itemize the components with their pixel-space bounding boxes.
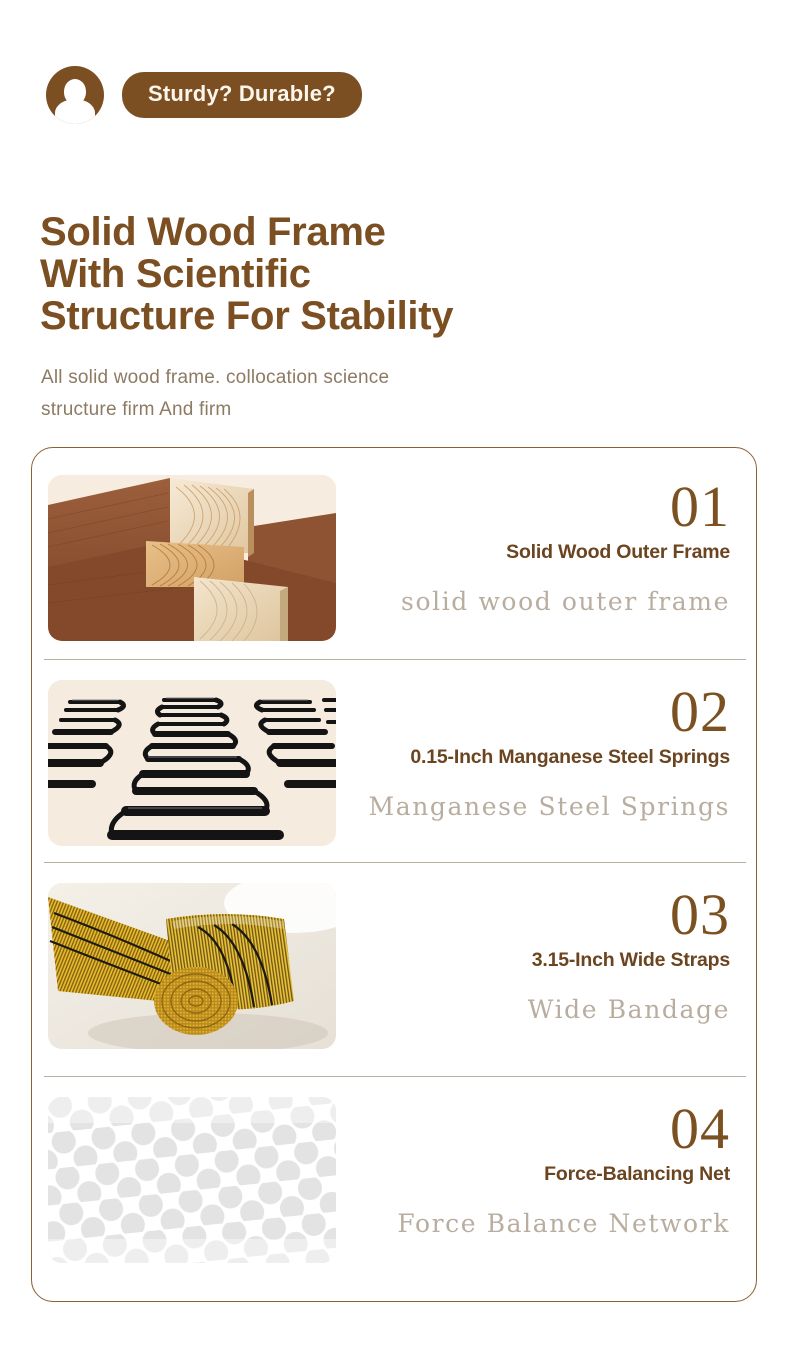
solid-wood-beams-image [48,475,336,641]
feature-list-card: 01 Solid Wood Outer Frame solid wood out… [31,447,757,1302]
subtitle-line-1: All solid wood frame. collocation scienc… [41,362,389,394]
feature-label: Solid Wood Outer Frame [506,541,730,564]
feature-rows: 01 Solid Wood Outer Frame solid wood out… [32,448,756,1301]
feature-row[interactable]: 03 3.15-Inch Wide Straps Wide Bandage [32,866,756,1066]
feature-sublabel: Manganese Steel Springs [369,792,731,821]
feature-number: 03 [670,889,730,941]
serpentine-springs-image [48,680,336,846]
page-subtitle: All solid wood frame. collocation scienc… [41,362,389,426]
headline-line-1: Solid Wood Frame [40,211,453,253]
feature-number: 04 [670,1103,730,1155]
feature-row[interactable]: 02 0.15-Inch Manganese Steel Springs Man… [32,663,756,863]
feature-text-column: 04 Force-Balancing Net Force Balance Net… [336,1097,756,1263]
feature-text-column: 02 0.15-Inch Manganese Steel Springs Man… [336,680,756,846]
page-title: Solid Wood Frame With Scientific Structu… [40,211,453,337]
feature-number: 02 [670,686,730,738]
feature-text-column: 03 3.15-Inch Wide Straps Wide Bandage [336,883,756,1049]
force-balance-mesh-image [48,1097,336,1263]
feature-label: 3.15-Inch Wide Straps [532,949,730,972]
avatar-body-shape [55,99,95,124]
feature-label: Force-Balancing Net [544,1163,730,1186]
feature-row[interactable]: 01 Solid Wood Outer Frame solid wood out… [32,458,756,658]
feature-label: 0.15-Inch Manganese Steel Springs [410,746,730,769]
feature-text-column: 01 Solid Wood Outer Frame solid wood out… [336,475,756,641]
headline-line-3: Structure For Stability [40,295,453,337]
feature-sublabel: solid wood outer frame [401,587,730,616]
feature-sublabel: Wide Bandage [528,995,730,1024]
header-badge-row: Sturdy? Durable? [46,66,362,124]
user-avatar-icon [46,66,104,124]
yellow-webbing-strap-image [48,883,336,1049]
feature-row[interactable]: 04 Force-Balancing Net Force Balance Net… [32,1080,756,1280]
feature-number: 01 [670,481,730,533]
headline-line-2: With Scientific [40,253,453,295]
subtitle-line-2: structure firm And firm [41,394,389,426]
question-badge[interactable]: Sturdy? Durable? [122,72,362,118]
feature-sublabel: Force Balance Network [397,1209,730,1238]
